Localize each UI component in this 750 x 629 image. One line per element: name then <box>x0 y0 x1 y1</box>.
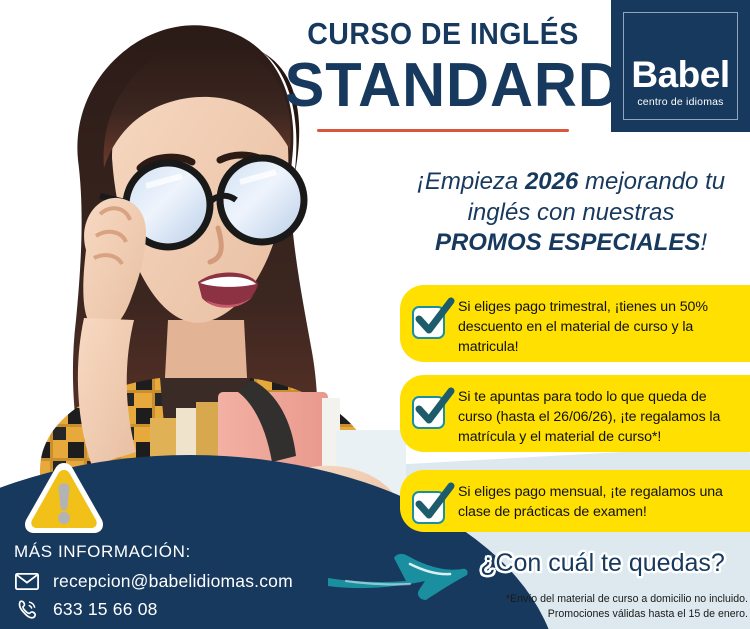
checkbox-checked-icon[interactable] <box>412 488 448 524</box>
fineprint: *Envío del material de curso a domicilio… <box>440 592 748 623</box>
logo-name: Babel <box>631 56 729 93</box>
logo-tagline: centro de idiomas <box>637 97 723 108</box>
promo-card-3[interactable]: Si eliges pago mensual, ¡te regalamos un… <box>400 470 750 532</box>
fineprint-line-1: *Envío del material de curso a domicilio… <box>440 592 748 607</box>
contact-block: MÁS INFORMACIÓN: recepcion@babelidiomas.… <box>14 542 293 627</box>
contact-title: MÁS INFORMACIÓN: <box>14 542 293 562</box>
warning-triangle-icon <box>20 458 108 538</box>
contact-row-phone[interactable]: 633 15 66 08 <box>14 599 293 620</box>
fineprint-line-2: Promociones válidas hasta el 15 de enero… <box>440 607 748 622</box>
page-title: STANDARD <box>285 53 602 118</box>
promotional-flyer: CURSO DE INGLÉS STANDARD Babel centro de… <box>0 0 750 629</box>
check-glyph <box>410 295 456 341</box>
contact-row-email[interactable]: recepcion@babelidiomas.com <box>14 571 293 592</box>
promo-card-1[interactable]: Si eliges pago trimestral, ¡tienes un 50… <box>400 285 750 362</box>
subtitle-exclamation: ! <box>700 229 707 256</box>
header: CURSO DE INGLÉS STANDARD <box>278 18 608 132</box>
title-divider <box>317 129 569 132</box>
promo-text: Si eliges pago mensual, ¡te regalamos un… <box>458 482 736 522</box>
subtitle-line2: inglés con nuestras <box>468 199 675 226</box>
page-kicker: CURSO DE INGLÉS <box>291 18 595 49</box>
phone-icon <box>14 600 40 620</box>
subtitle-line1-part1: ¡Empieza <box>417 168 525 195</box>
envelope-icon <box>14 572 40 592</box>
babel-logo: Babel centro de idiomas <box>611 0 750 132</box>
promo-card-2[interactable]: Si te apuntas para todo lo que queda de … <box>400 375 750 452</box>
promo-text: Si eliges pago trimestral, ¡tienes un 50… <box>458 297 736 357</box>
checkbox-checked-icon[interactable] <box>412 303 448 339</box>
check-glyph <box>410 385 456 431</box>
cta-question: ¿Con cuál te quedas? <box>455 549 750 578</box>
promo-text: Si te apuntas para todo lo que queda de … <box>458 387 736 447</box>
check-glyph <box>410 480 456 526</box>
subtitle-year: 2026 <box>525 168 578 195</box>
contact-phone[interactable]: 633 15 66 08 <box>53 599 158 620</box>
subtitle-promos-bold: PROMOS ESPECIALES <box>435 229 700 256</box>
logo-frame: Babel centro de idiomas <box>623 12 738 120</box>
subtitle-line1-part2: mejorando tu <box>578 168 725 195</box>
contact-email[interactable]: recepcion@babelidiomas.com <box>53 571 293 592</box>
subtitle: ¡Empieza 2026 mejorando tu inglés con nu… <box>392 167 750 259</box>
checkbox-checked-icon[interactable] <box>412 393 448 429</box>
